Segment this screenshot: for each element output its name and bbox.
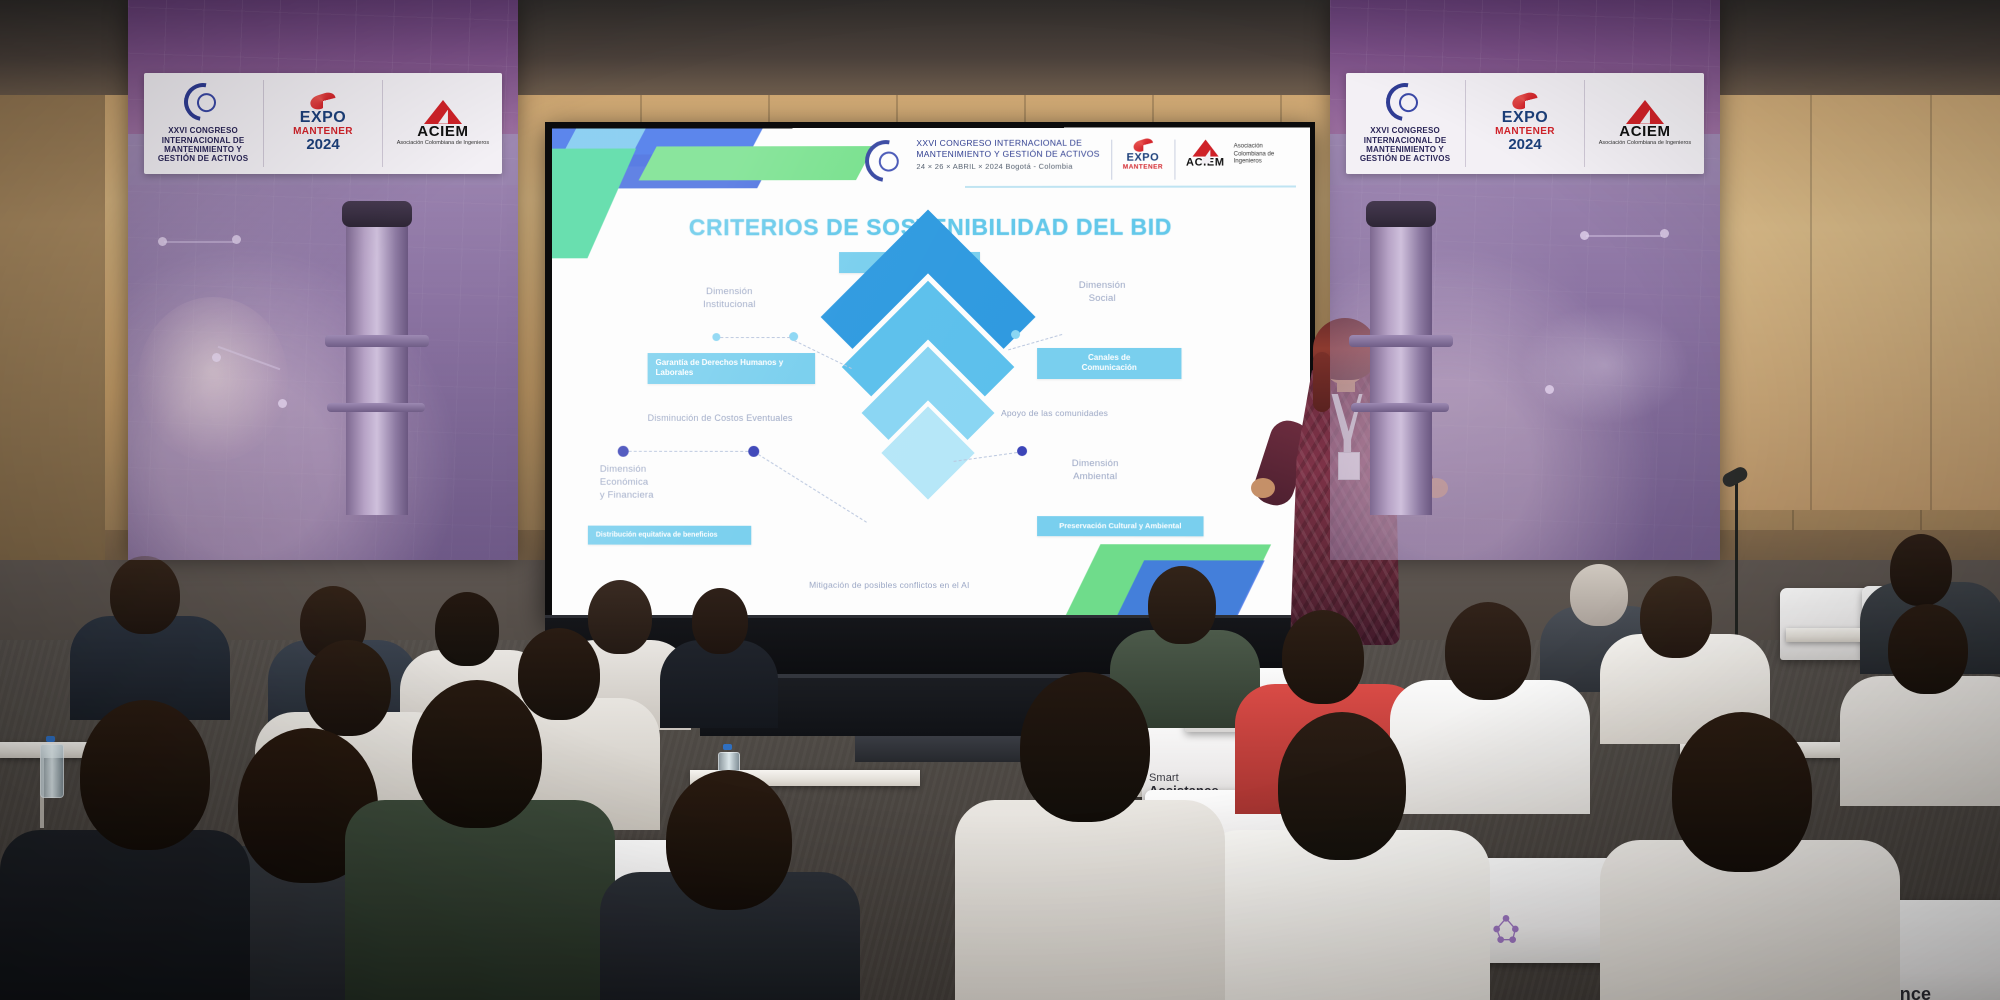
audience-shoulders <box>1390 680 1590 814</box>
audience-head <box>692 588 748 654</box>
slide-node <box>712 333 720 341</box>
banner-left-expo-logo: EXPO MANTENER 2024 <box>263 80 383 167</box>
audience-shoulders <box>0 830 250 1000</box>
banner-right-artwork <box>1330 185 1720 560</box>
banner-left-congress-line1: XXVI CONGRESO INTERNACIONAL DE <box>162 126 245 144</box>
audience-head <box>1278 712 1406 860</box>
speaker-hair-side <box>1313 352 1331 412</box>
conference-photo: XXVI CONGRESO INTERNACIONAL DE MANTENIMI… <box>0 0 2000 1000</box>
slide-pill-canales-comunicacion: Canales de Comunicación <box>1037 348 1181 379</box>
slide-expo-top: EXPO <box>1127 153 1160 164</box>
audience-shoulders <box>1840 676 2000 806</box>
banner-right-expo-top: EXPO <box>1502 110 1548 126</box>
slide-dates: 24 × 26 × ABRIL × 2024 Bogotá - Colombia <box>916 162 1099 171</box>
slide-connector <box>720 337 790 338</box>
banner-left-aciem-sub: Asociación Colombiana de Ingenieros <box>397 140 489 147</box>
globe-icon <box>857 132 915 190</box>
bottle-cap <box>46 736 55 742</box>
slide-connector <box>758 454 867 523</box>
slide-label-dimension-ambiental: Dimensión Ambiental <box>1051 458 1139 484</box>
audience-head <box>1890 534 1952 606</box>
banner-left-node <box>212 353 221 362</box>
slide-expo-mid: MANTENER <box>1123 164 1163 171</box>
banner-right-congress-line1: XXVI CONGRESO INTERNACIONAL DE <box>1364 126 1447 144</box>
speaker-hand-left <box>1251 478 1275 498</box>
slide-aciem-logo: ACIEM <box>1186 137 1225 168</box>
slide-pill-preservacion: Preservación Cultural y Ambiental <box>1037 516 1203 536</box>
banner-right-expo-logo: EXPO MANTENER 2024 <box>1465 80 1585 167</box>
banner-left-expo-top: EXPO <box>300 110 346 126</box>
slide-congress-line2: MANTENIMIENTO Y GESTIÓN DE ACTIVOS <box>916 149 1099 159</box>
stage-step <box>855 736 1045 762</box>
banner-left-congress-logo: XXVI CONGRESO INTERNACIONAL DE MANTENIMI… <box>144 80 263 167</box>
slide-label-apoyo-comunidades: Apoyo de las comunidades <box>1001 408 1108 420</box>
banner-left-node <box>278 399 287 408</box>
banner-left-tower-ring <box>325 335 429 347</box>
audience-shoulders <box>955 800 1225 1000</box>
banner-left-netline <box>164 241 234 243</box>
banner-right-aciem-name: ACIEM <box>1619 124 1670 141</box>
banner-right-congress-logo: XXVI CONGRESO INTERNACIONAL DE MANTENIMI… <box>1346 80 1465 167</box>
slide-header-rule <box>965 185 1296 187</box>
slide-deco-green <box>639 146 874 180</box>
banner-right-netline <box>1586 235 1662 237</box>
banner-left-artwork <box>128 185 518 560</box>
audience-head <box>518 628 600 720</box>
audience-head <box>305 640 391 736</box>
slide-node <box>618 446 629 457</box>
slide-label-dimension-economica: Dimensión Económica y Financiera <box>600 464 692 502</box>
banner-left-congress-line2: MANTENIMIENTO Y GESTIÓN DE ACTIVOS <box>158 145 248 163</box>
slide-pill-garantia-derechos: Garantía de Derechos Humanos y Laborales <box>648 353 815 384</box>
banner-right-node <box>1545 385 1554 394</box>
audience-head <box>1640 576 1712 658</box>
globe-icon <box>1379 76 1432 129</box>
presentation-slide: XXVI CONGRESO INTERNACIONAL DE MANTENIMI… <box>552 127 1310 618</box>
aciem-triangle-icon <box>1192 139 1218 156</box>
audience-head <box>1445 602 1531 700</box>
banner-left-node <box>232 235 241 244</box>
banner-right: XXVI CONGRESO INTERNACIONAL DE MANTENIMI… <box>1330 0 1720 560</box>
banner-left-face-graphic <box>138 297 288 462</box>
banner-left-expo-year: 2024 <box>306 137 339 152</box>
globe-icon <box>177 76 230 129</box>
water-bottle <box>40 744 64 798</box>
slide-header-divider <box>1111 140 1112 180</box>
banner-right-tower-graphic <box>1370 215 1432 515</box>
slide-aciem-sub: Asociación Colombiana de Ingenieros <box>1234 137 1296 166</box>
banner-left-logo-card: XXVI CONGRESO INTERNACIONAL DE MANTENIMI… <box>144 73 503 174</box>
aciem-triangle-icon <box>1626 100 1664 124</box>
audience-head <box>588 580 652 654</box>
banner-left-aciem-logo: ACIEM Asociación Colombiana de Ingeniero… <box>382 80 502 167</box>
slide-node <box>748 446 759 457</box>
slide-pill-distribucion-beneficios: Distribución equitativa de beneficios <box>588 526 751 545</box>
bottle-cap <box>723 744 732 750</box>
audience-head <box>1020 672 1150 822</box>
audience-head <box>1672 712 1812 872</box>
slide-congress-line1: XXVI CONGRESO INTERNACIONAL DE <box>916 138 1082 148</box>
banner-right-node <box>1660 229 1669 238</box>
slide-label-dimension-institucional: Dimensión Institucional <box>679 286 779 312</box>
audience-shoulders <box>345 800 615 1000</box>
slide-expo-logo: EXPO MANTENER <box>1123 138 1163 171</box>
audience-head <box>412 680 542 828</box>
banner-left-tower-cap <box>342 201 412 227</box>
audience-head <box>80 700 210 850</box>
slide-header-divider <box>1174 140 1175 180</box>
audience-head <box>1570 564 1628 626</box>
banner-right-congress-line2: MANTENIMIENTO Y GESTIÓN DE ACTIVOS <box>1360 145 1450 163</box>
banner-right-tower-ring2 <box>1351 403 1449 412</box>
slide-label-mitigacion-conflictos: Mitigación de posibles conflictos en el … <box>809 580 969 592</box>
audience-head <box>1282 610 1364 704</box>
banner-right-tower-cap <box>1366 201 1436 227</box>
slide-header-logos: XXVI CONGRESO INTERNACIONAL DE MANTENIMI… <box>865 137 1296 182</box>
slide-deco-green2 <box>552 148 636 258</box>
banner-left-tower-ring2 <box>327 403 425 412</box>
audience-head <box>666 770 792 910</box>
audience-head <box>1888 604 1968 694</box>
banner-right-expo-year: 2024 <box>1508 137 1541 152</box>
audience-head <box>435 592 499 666</box>
banner-left-tower-graphic <box>346 215 408 515</box>
banner-left-aciem-name: ACIEM <box>417 124 468 141</box>
aciem-triangle-icon <box>424 100 462 124</box>
banner-right-vr-graphic <box>1520 305 1690 425</box>
audience-head <box>110 556 180 634</box>
molecule-icon <box>1490 913 1522 945</box>
slide-node <box>1017 446 1027 456</box>
slide-connector <box>629 451 749 452</box>
banner-right-tower-ring <box>1349 335 1453 347</box>
banner-right-aciem-sub: Asociación Colombiana de Ingenieros <box>1599 140 1691 147</box>
slide-label-dimension-social: Dimensión Social <box>1057 280 1147 306</box>
banner-left: XXVI CONGRESO INTERNACIONAL DE MANTENIMI… <box>128 0 518 560</box>
banner-right-logo-card: XXVI CONGRESO INTERNACIONAL DE MANTENIMI… <box>1346 73 1705 174</box>
slide-node <box>1011 330 1020 339</box>
audience-head <box>1148 566 1216 644</box>
banner-right-aciem-logo: ACIEM Asociación Colombiana de Ingeniero… <box>1584 80 1704 167</box>
slide-label-disminucion-costos: Disminución de Costos Eventuales <box>648 412 793 424</box>
microphone-stand <box>1735 480 1738 660</box>
